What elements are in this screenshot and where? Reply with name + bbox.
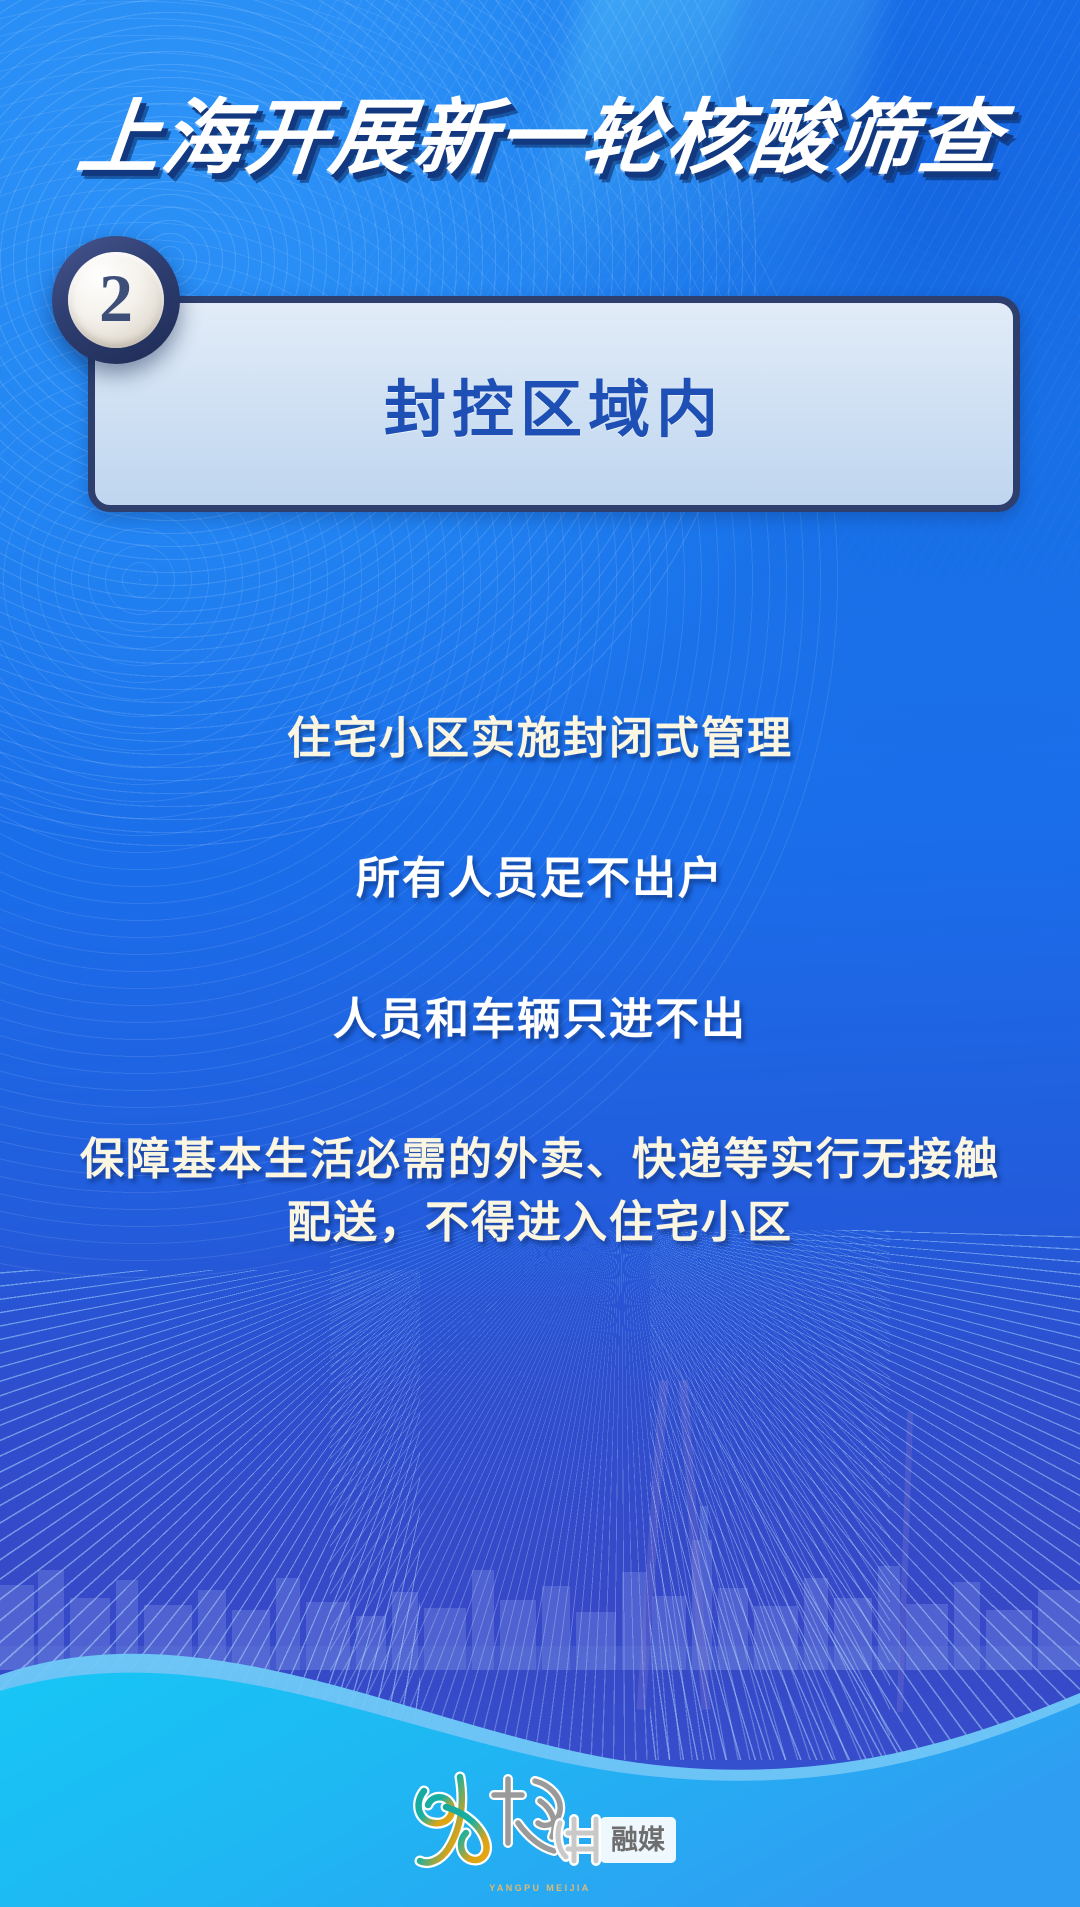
badge-number: 2 (99, 264, 133, 332)
step-number-badge: 2 (52, 236, 180, 364)
body-line-2: 所有人员足不出户 (0, 848, 1080, 910)
section-card: 封控区域内 (88, 296, 1020, 512)
yangpu-media-logo-icon: 融媒 (390, 1761, 690, 1881)
page-title: 上海开展新一轮核酸筛查 (0, 96, 1080, 182)
body-line-4: 保障基本生活必需的外卖、快递等实行无接触配送，不得进入住宅小区 (60, 1129, 1020, 1254)
badge-inner-face: 2 (68, 252, 164, 348)
section-card-title: 封控区域内 (384, 359, 724, 449)
logo-pinyin: YANGPU MEIJIA (0, 1883, 1080, 1893)
logo-text: 融媒 (611, 1824, 666, 1855)
body-line-1: 住宅小区实施封闭式管理 (0, 708, 1080, 770)
body-line-3: 人员和车辆只进不出 (0, 989, 1080, 1051)
body-text-block: 住宅小区实施封闭式管理 所有人员足不出户 人员和车辆只进不出 保障基本生活必需的… (0, 620, 1080, 1254)
poster-root: 上海开展新一轮核酸筛查 2 封控区域内 住宅小区实施封闭式管理 所有人员足不出户… (0, 0, 1080, 1907)
footer-logo: 融媒 (0, 1761, 1080, 1881)
